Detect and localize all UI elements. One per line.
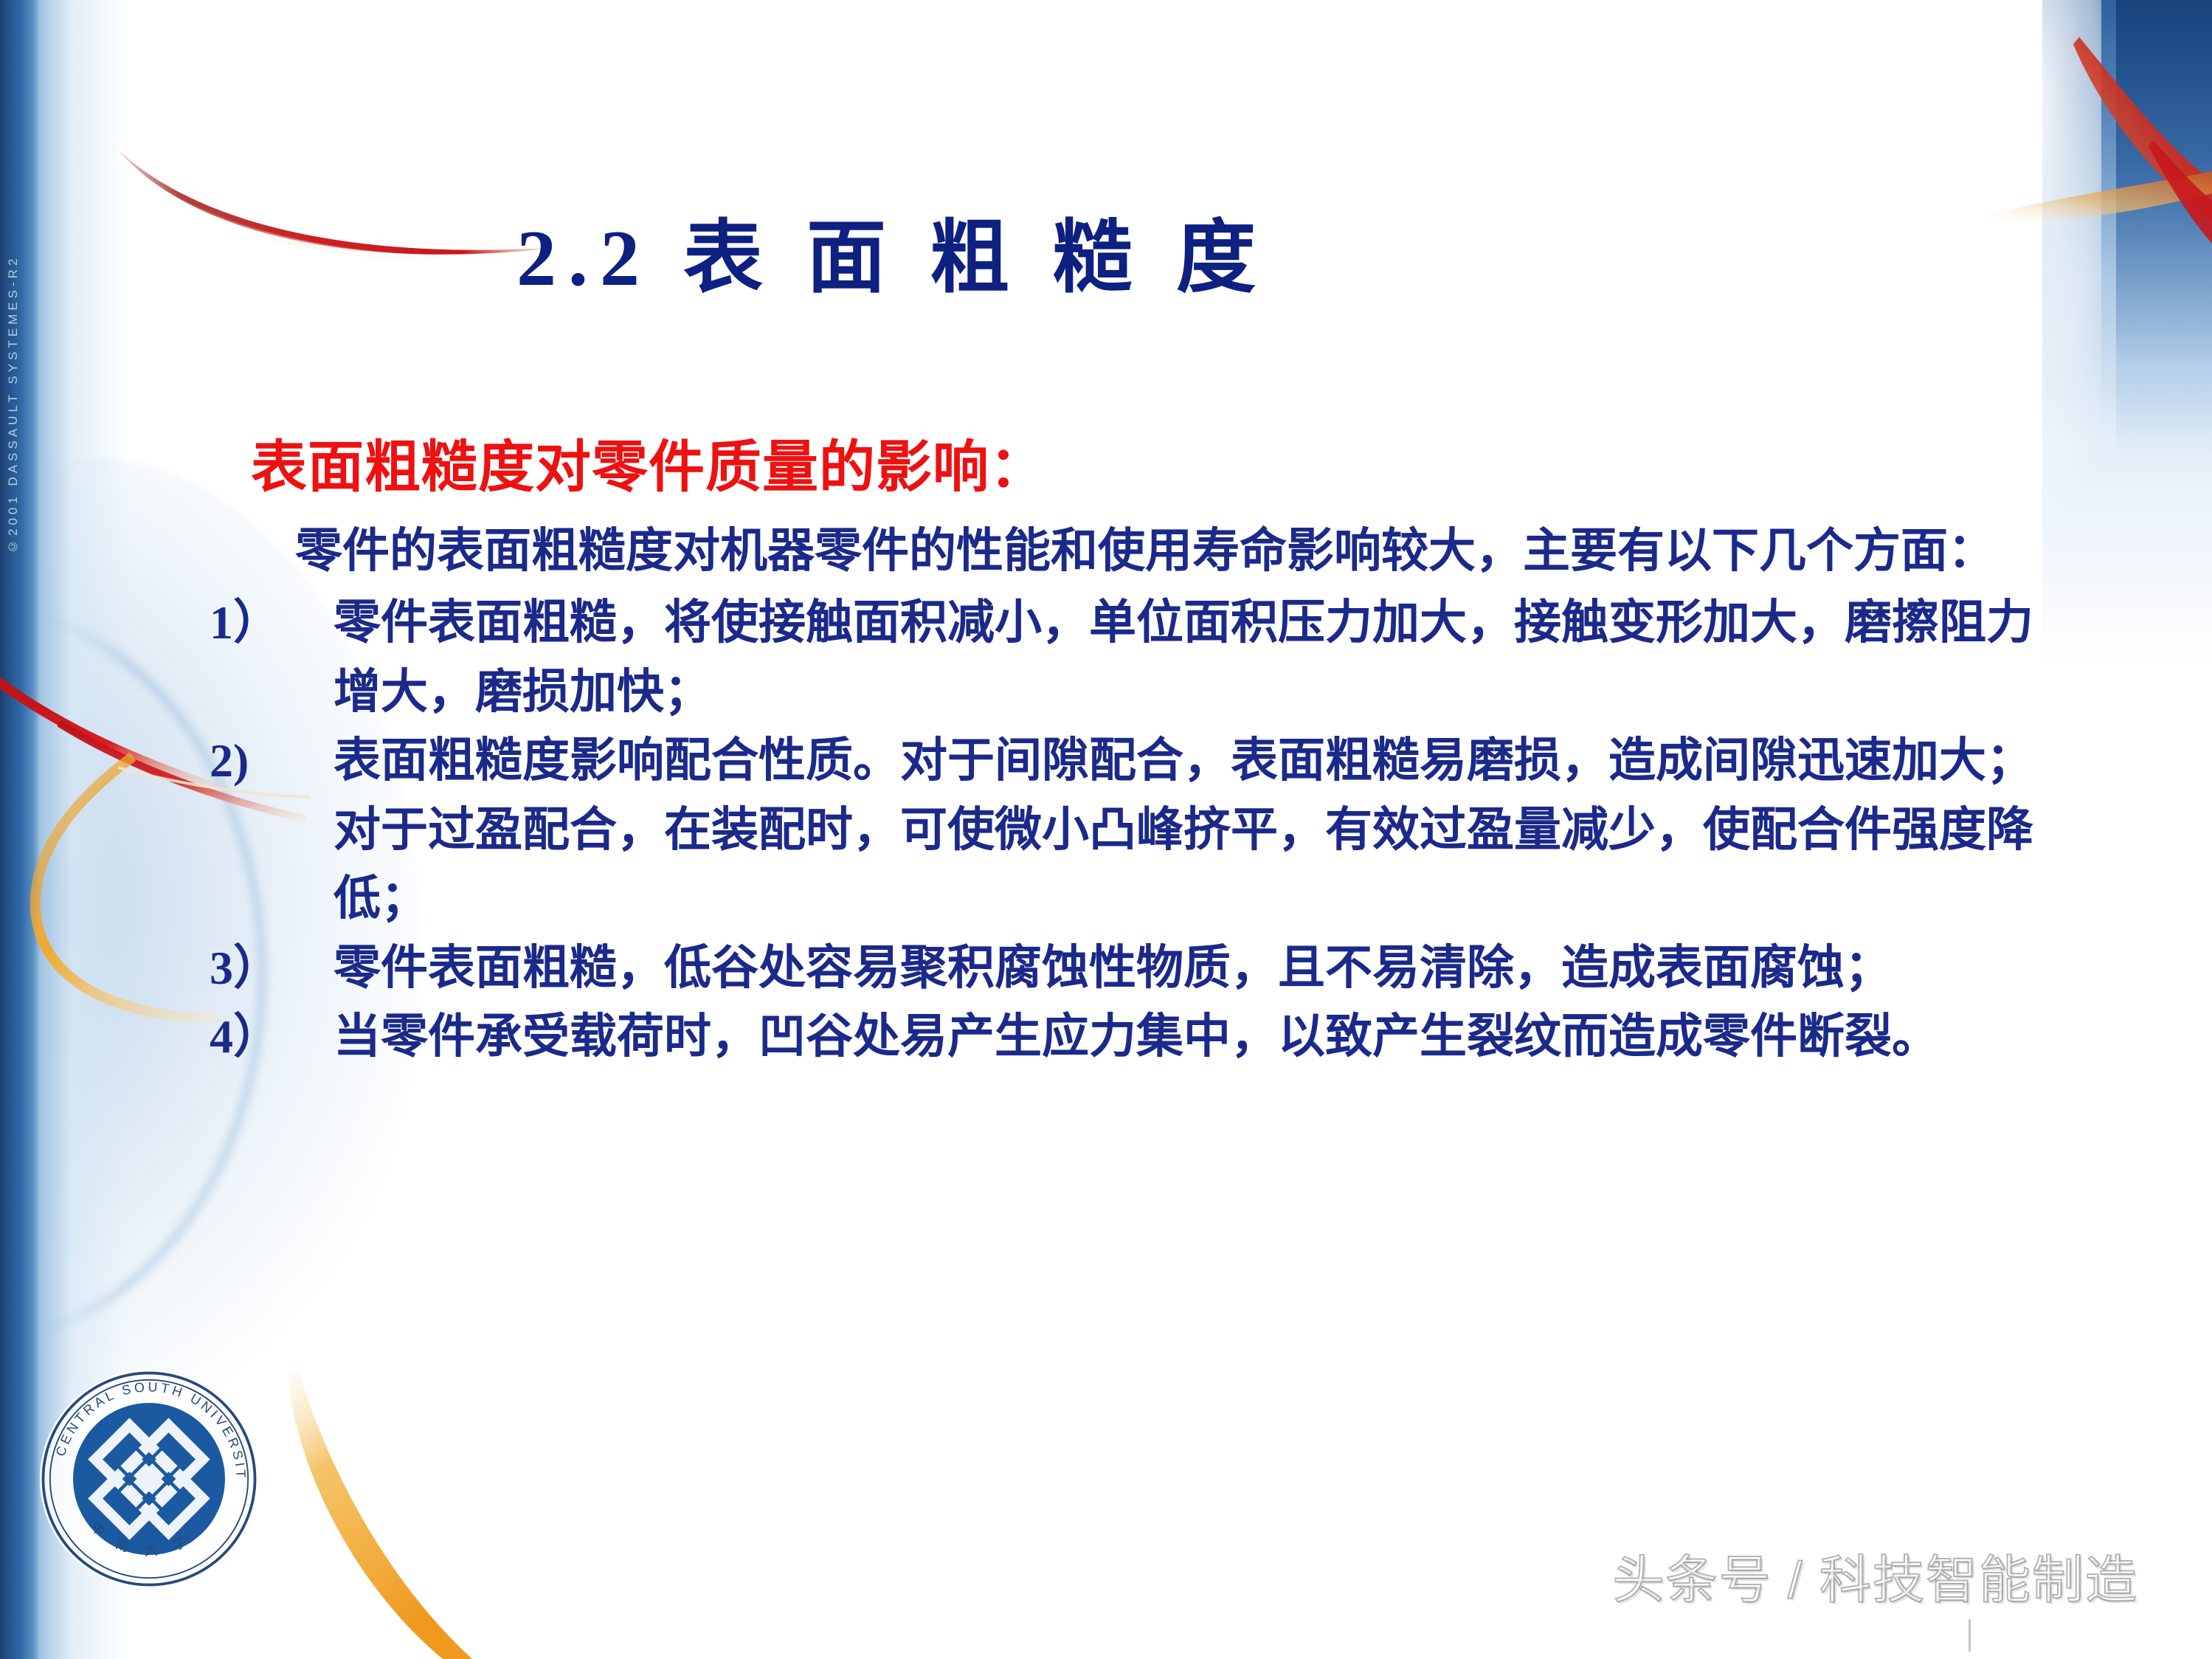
list-item: 4） 当零件承受载荷时，凹谷处易产生应力集中，以致产生裂纹而造成零件断裂。 bbox=[251, 1002, 2036, 1071]
section-subtitle: 表面粗糙度对零件质量的影响： bbox=[251, 421, 1046, 503]
watermark-tick-decoration bbox=[1969, 1619, 1971, 1652]
list-item-marker: 2) bbox=[210, 726, 328, 795]
list-item-marker: 1） bbox=[210, 588, 328, 657]
list-item-text: 当零件承受载荷时，凹谷处易产生应力集中，以致产生裂纹而造成零件断裂。 bbox=[333, 1002, 2036, 1071]
body-text-block: 零件的表面粗糙度对机器零件的性能和使用寿命影响较大，主要有以下几个方面： 1） … bbox=[251, 517, 2036, 1072]
central-south-university-logo-icon: CENTRAL SOUTH UNIVERSITY 中 南 大 学 bbox=[34, 1364, 264, 1594]
list-item: 1） 零件表面粗糙，将使接触面积减小，单位面积压力加大，接触变形加大，磨擦阻力增… bbox=[251, 588, 2036, 726]
list-item-text: 表面粗糙度影响配合性质。对于间隙配合，表面粗糙易磨损，造成间隙迅速加大；对于过盈… bbox=[333, 726, 2036, 933]
intro-paragraph: 零件的表面粗糙度对机器零件的性能和使用寿命影响较大，主要有以下几个方面： bbox=[207, 517, 2036, 585]
list-item: 2) 表面粗糙度影响配合性质。对于间隙配合，表面粗糙易磨损，造成间隙迅速加大；对… bbox=[251, 726, 2036, 933]
list-item-marker: 4） bbox=[210, 1002, 328, 1071]
slide-canvas: ©2001 DASSAULT SYSTEMES-R2 bbox=[0, 0, 2212, 1659]
list-item: 3） 零件表面粗糙，低谷处容易聚积腐蚀性物质，且不易清除，造成表面腐蚀； bbox=[251, 934, 2036, 1002]
list-item-text: 零件表面粗糙，将使接触面积减小，单位面积压力加大，接触变形加大，磨擦阻力增大，磨… bbox=[333, 588, 2036, 726]
page-title: 2.2 表 面 粗 糙 度 bbox=[516, 217, 1712, 300]
list-item-text: 零件表面粗糙，低谷处容易聚积腐蚀性物质，且不易清除，造成表面腐蚀； bbox=[333, 934, 2036, 1002]
list-item-marker: 3） bbox=[210, 934, 328, 1002]
effects-list: 1） 零件表面粗糙，将使接触面积减小，单位面积压力加大，接触变形加大，磨擦阻力增… bbox=[251, 588, 2036, 1071]
watermark-text: 头条号 / 科技智能制造 bbox=[1613, 1539, 2138, 1613]
slide-content: 2.2 表 面 粗 糙 度 表面粗糙度对零件质量的影响： 零件的表面粗糙度对机器… bbox=[0, 0, 2212, 1659]
